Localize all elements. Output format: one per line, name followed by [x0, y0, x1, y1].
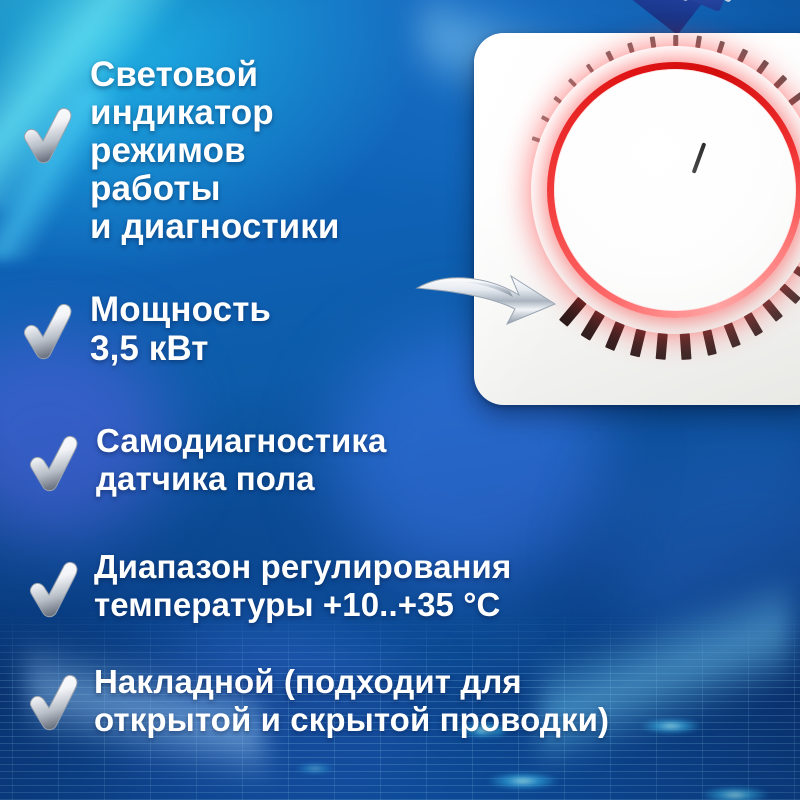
infographic-canvas: Световой индикатор режимов работы и диаг… [0, 0, 800, 800]
feature-text: Световой индикатор режимов работы и диаг… [90, 56, 340, 246]
checkmark-icon [18, 302, 80, 364]
feature-item-temperature-range: Диапазон регулирования температуры +10..… [24, 550, 511, 624]
checkmark-icon [24, 673, 86, 735]
feature-text: Диапазон регулирования температуры +10..… [94, 548, 511, 624]
feature-list: Световой индикатор режимов работы и диаг… [0, 0, 800, 800]
feature-item-light-indicator: Световой индикатор режимов работы и диаг… [18, 60, 340, 246]
feature-item-mounting-type: Накладной (подходит для открытой и скрыт… [24, 665, 609, 739]
checkmark-icon [24, 560, 86, 622]
checkmark-icon [24, 434, 86, 496]
feature-text: Самодиагностика датчика пола [96, 422, 386, 498]
feature-text: Накладной (подходит для открытой и скрыт… [94, 663, 609, 739]
feature-text: Мощность 3,5 кВт [90, 290, 271, 368]
feature-item-power: Мощность 3,5 кВт [18, 292, 271, 368]
feature-item-self-diagnostics: Самодиагностика датчика пола [24, 424, 386, 498]
checkmark-icon [18, 106, 80, 168]
